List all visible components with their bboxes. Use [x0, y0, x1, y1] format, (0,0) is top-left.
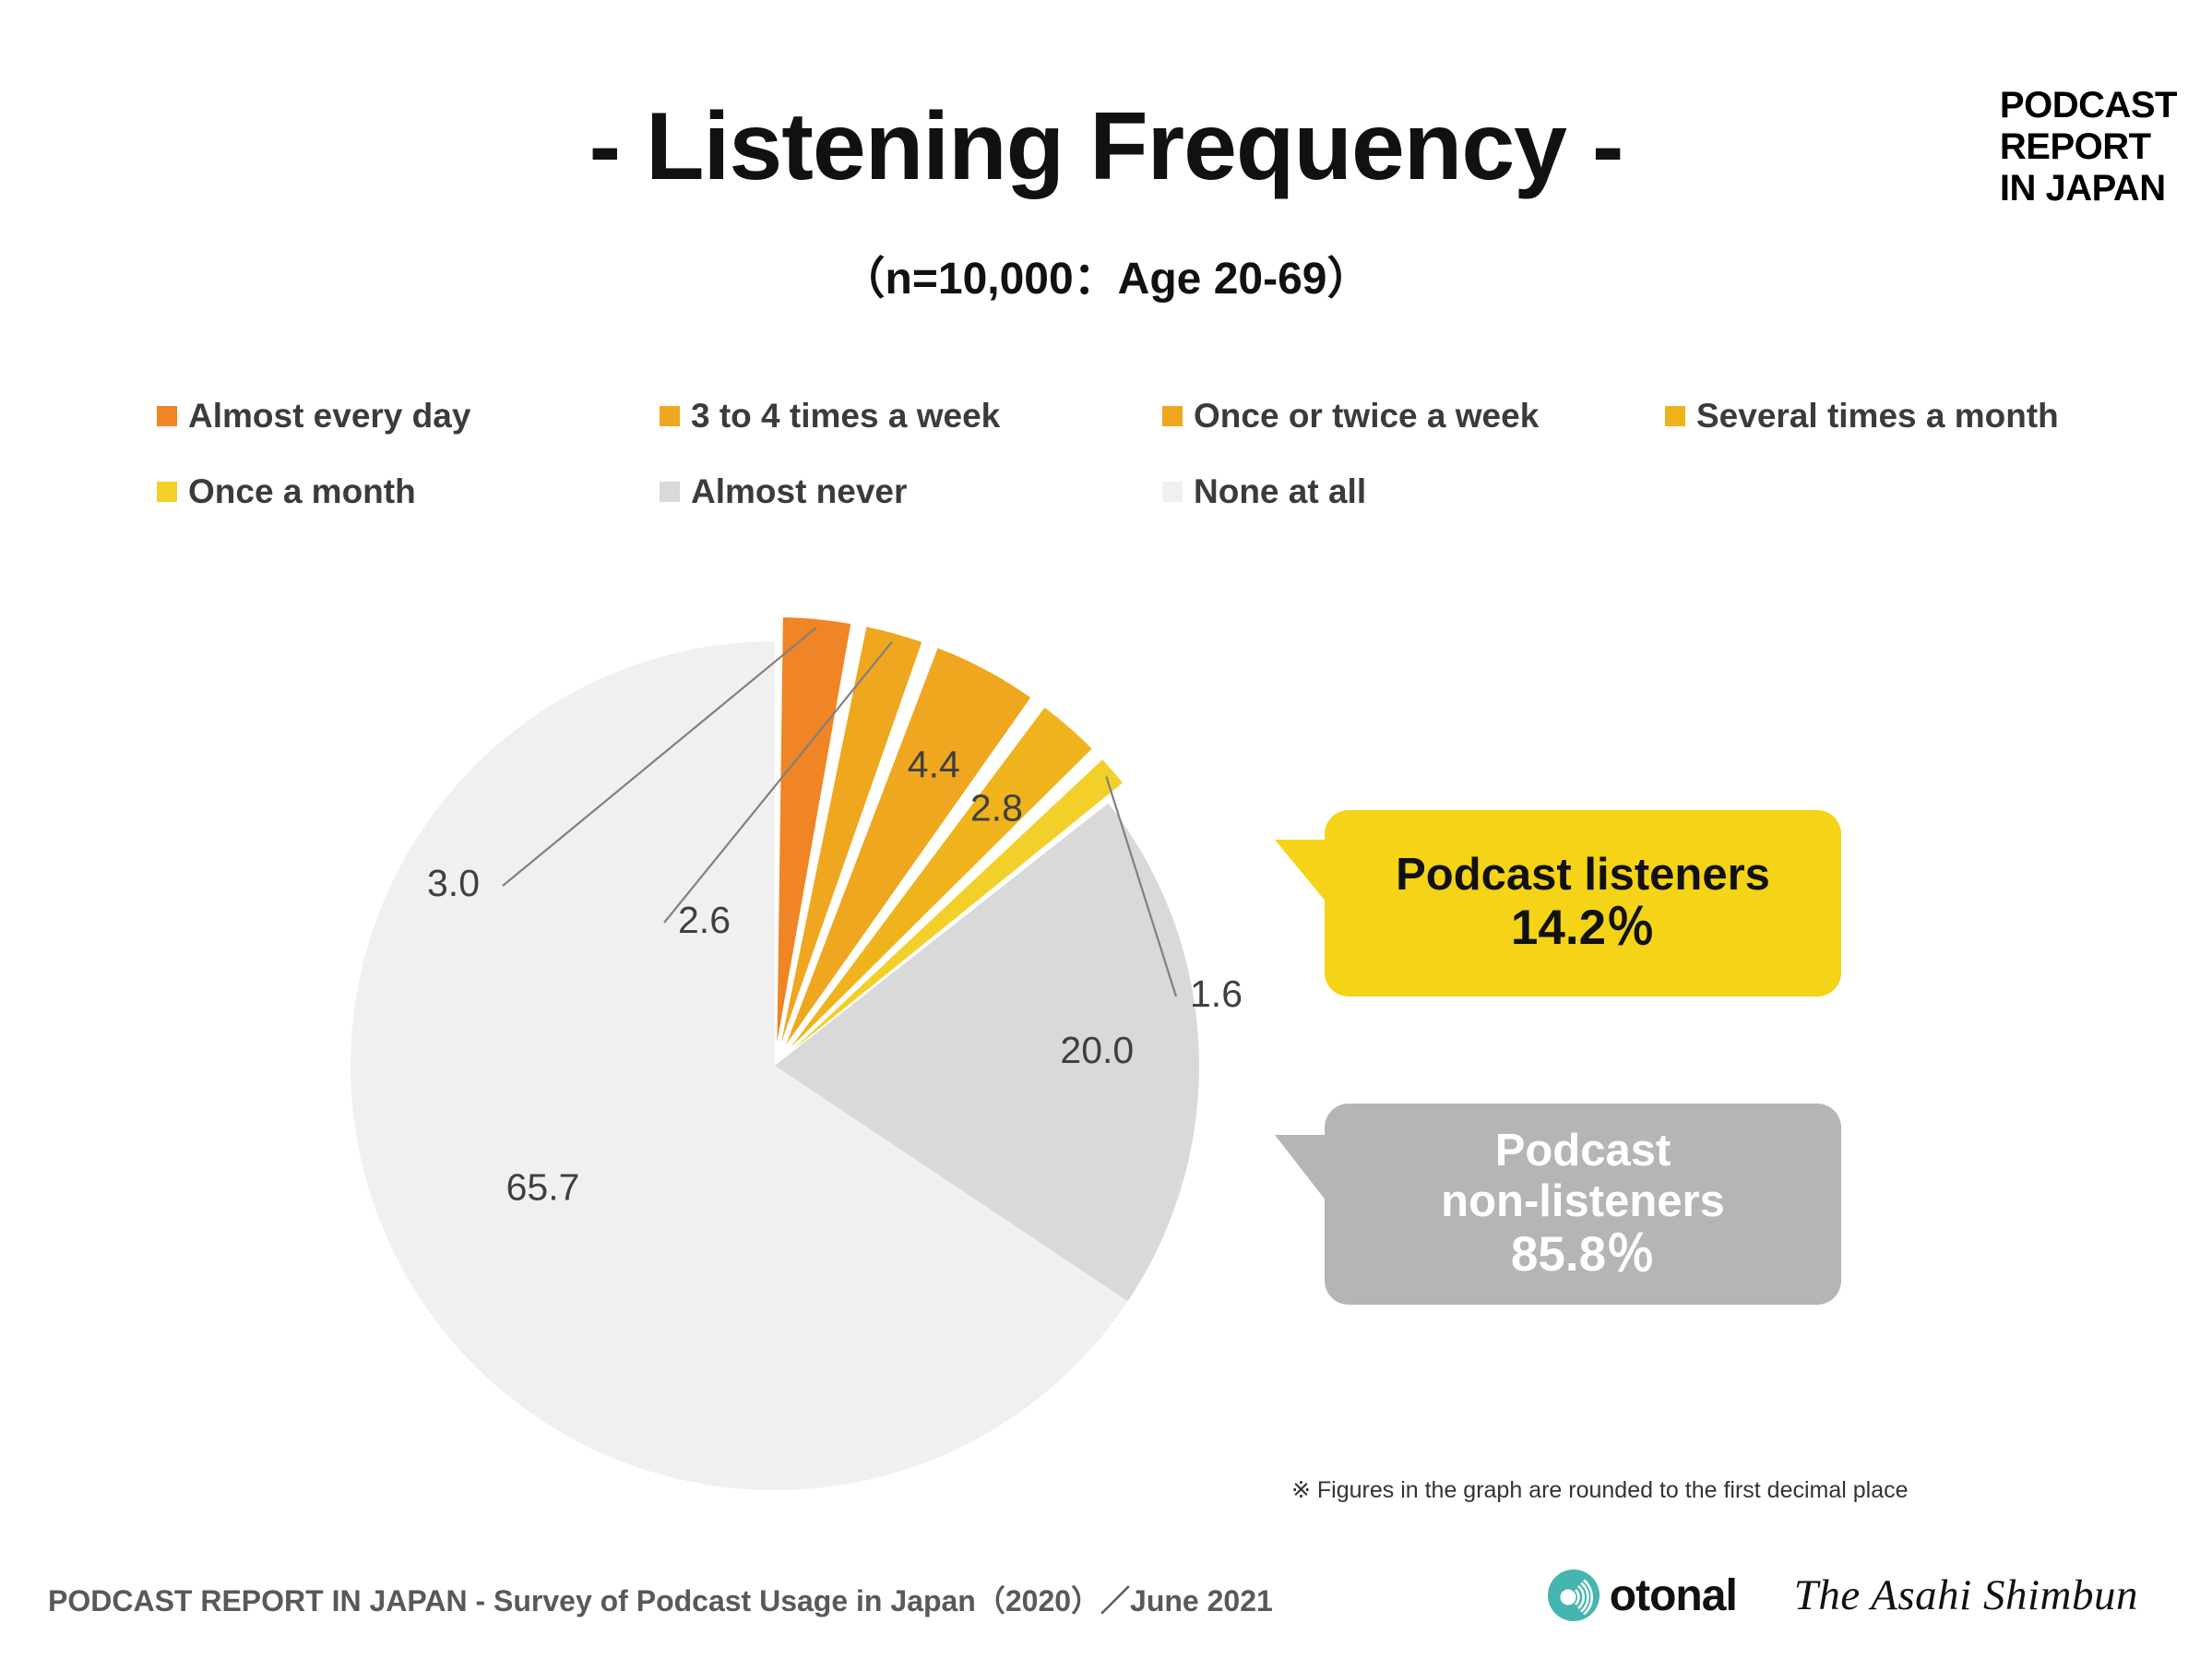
otonal-record-icon [1547, 1569, 1600, 1622]
page-title: - Listening Frequency - [0, 92, 2212, 202]
callout-podcast-non-listeners: Podcast non-listeners 85.8％ [1325, 1104, 1841, 1305]
legend-swatch-icon [1665, 406, 1685, 426]
footer-logos: otonal The Asahi Shimbun [1547, 1569, 2138, 1622]
pie-slice-label: 4.4 [908, 743, 960, 785]
callout-tail-icon [1275, 840, 1326, 902]
legend-item-label: Almost every day [188, 397, 470, 436]
legend-item-label: Several times a month [1696, 397, 2059, 436]
legend-swatch-icon [157, 482, 177, 502]
legend-item-label: Once or twice a week [1194, 397, 1539, 436]
legend-item-almost-every-day[interactable]: Almost every day [157, 397, 660, 436]
legend-item-label: 3 to 4 times a week [691, 397, 1000, 436]
callout-listeners-value: 14.2％ [1511, 901, 1655, 956]
pie-slice-label: 1.6 [1190, 973, 1243, 1015]
legend-swatch-icon [1162, 482, 1183, 502]
legend-item-label: Almost never [691, 472, 907, 511]
otonal-logo: otonal [1547, 1569, 1737, 1622]
legend-item-once-or-twice-a-week[interactable]: Once or twice a week [1162, 397, 1665, 436]
legend-swatch-icon [1162, 406, 1183, 426]
legend-item-almost-never[interactable]: Almost never [660, 472, 1162, 511]
legend-item-none-at-all[interactable]: None at all [1162, 472, 1665, 511]
legend-swatch-icon [157, 406, 177, 426]
callout-listeners-label: Podcast listeners [1396, 850, 1770, 901]
pie-slice-label: 3.0 [427, 862, 480, 904]
chart-legend: Almost every day 3 to 4 times a week Onc… [157, 378, 2112, 530]
chart-note: ※ Figures in the graph are rounded to th… [1291, 1476, 1909, 1504]
pie-chart-area: 3.02.64.42.81.620.065.7 [0, 517, 2212, 1495]
footer-source-text: PODCAST REPORT IN JAPAN - Survey of Podc… [48, 1578, 1273, 1620]
legend-swatch-icon [660, 406, 680, 426]
legend-item-3-to-4-times-a-week[interactable]: 3 to 4 times a week [660, 397, 1162, 436]
callout-non-listeners-value: 85.8％ [1511, 1227, 1655, 1283]
legend-item-once-a-month[interactable]: Once a month [157, 472, 660, 511]
callout-non-listeners-label-line-2: non-listeners [1441, 1176, 1725, 1227]
asahi-shimbun-logo: The Asahi Shimbun [1794, 1570, 2138, 1620]
pie-slice-label: 2.8 [970, 786, 1023, 829]
pie-slice-label: 20.0 [1060, 1029, 1134, 1071]
pie-chart-svg: 3.02.64.42.81.620.065.7 [0, 517, 2212, 1495]
callout-tail-icon [1275, 1135, 1326, 1201]
otonal-logo-text: otonal [1610, 1570, 1737, 1621]
legend-swatch-icon [660, 482, 680, 502]
pie-slice-label: 65.7 [506, 1165, 580, 1208]
callout-podcast-listeners: Podcast listeners 14.2％ [1325, 810, 1841, 997]
legend-item-several-times-a-month[interactable]: Several times a month [1665, 397, 2168, 436]
legend-item-label: None at all [1194, 472, 1366, 511]
legend-item-label: Once a month [188, 472, 416, 511]
pie-slice-label: 2.6 [678, 899, 731, 941]
page-subtitle: （n=10,000：Age 20-69） [0, 242, 2212, 306]
callout-non-listeners-label-line-1: Podcast [1495, 1126, 1671, 1176]
